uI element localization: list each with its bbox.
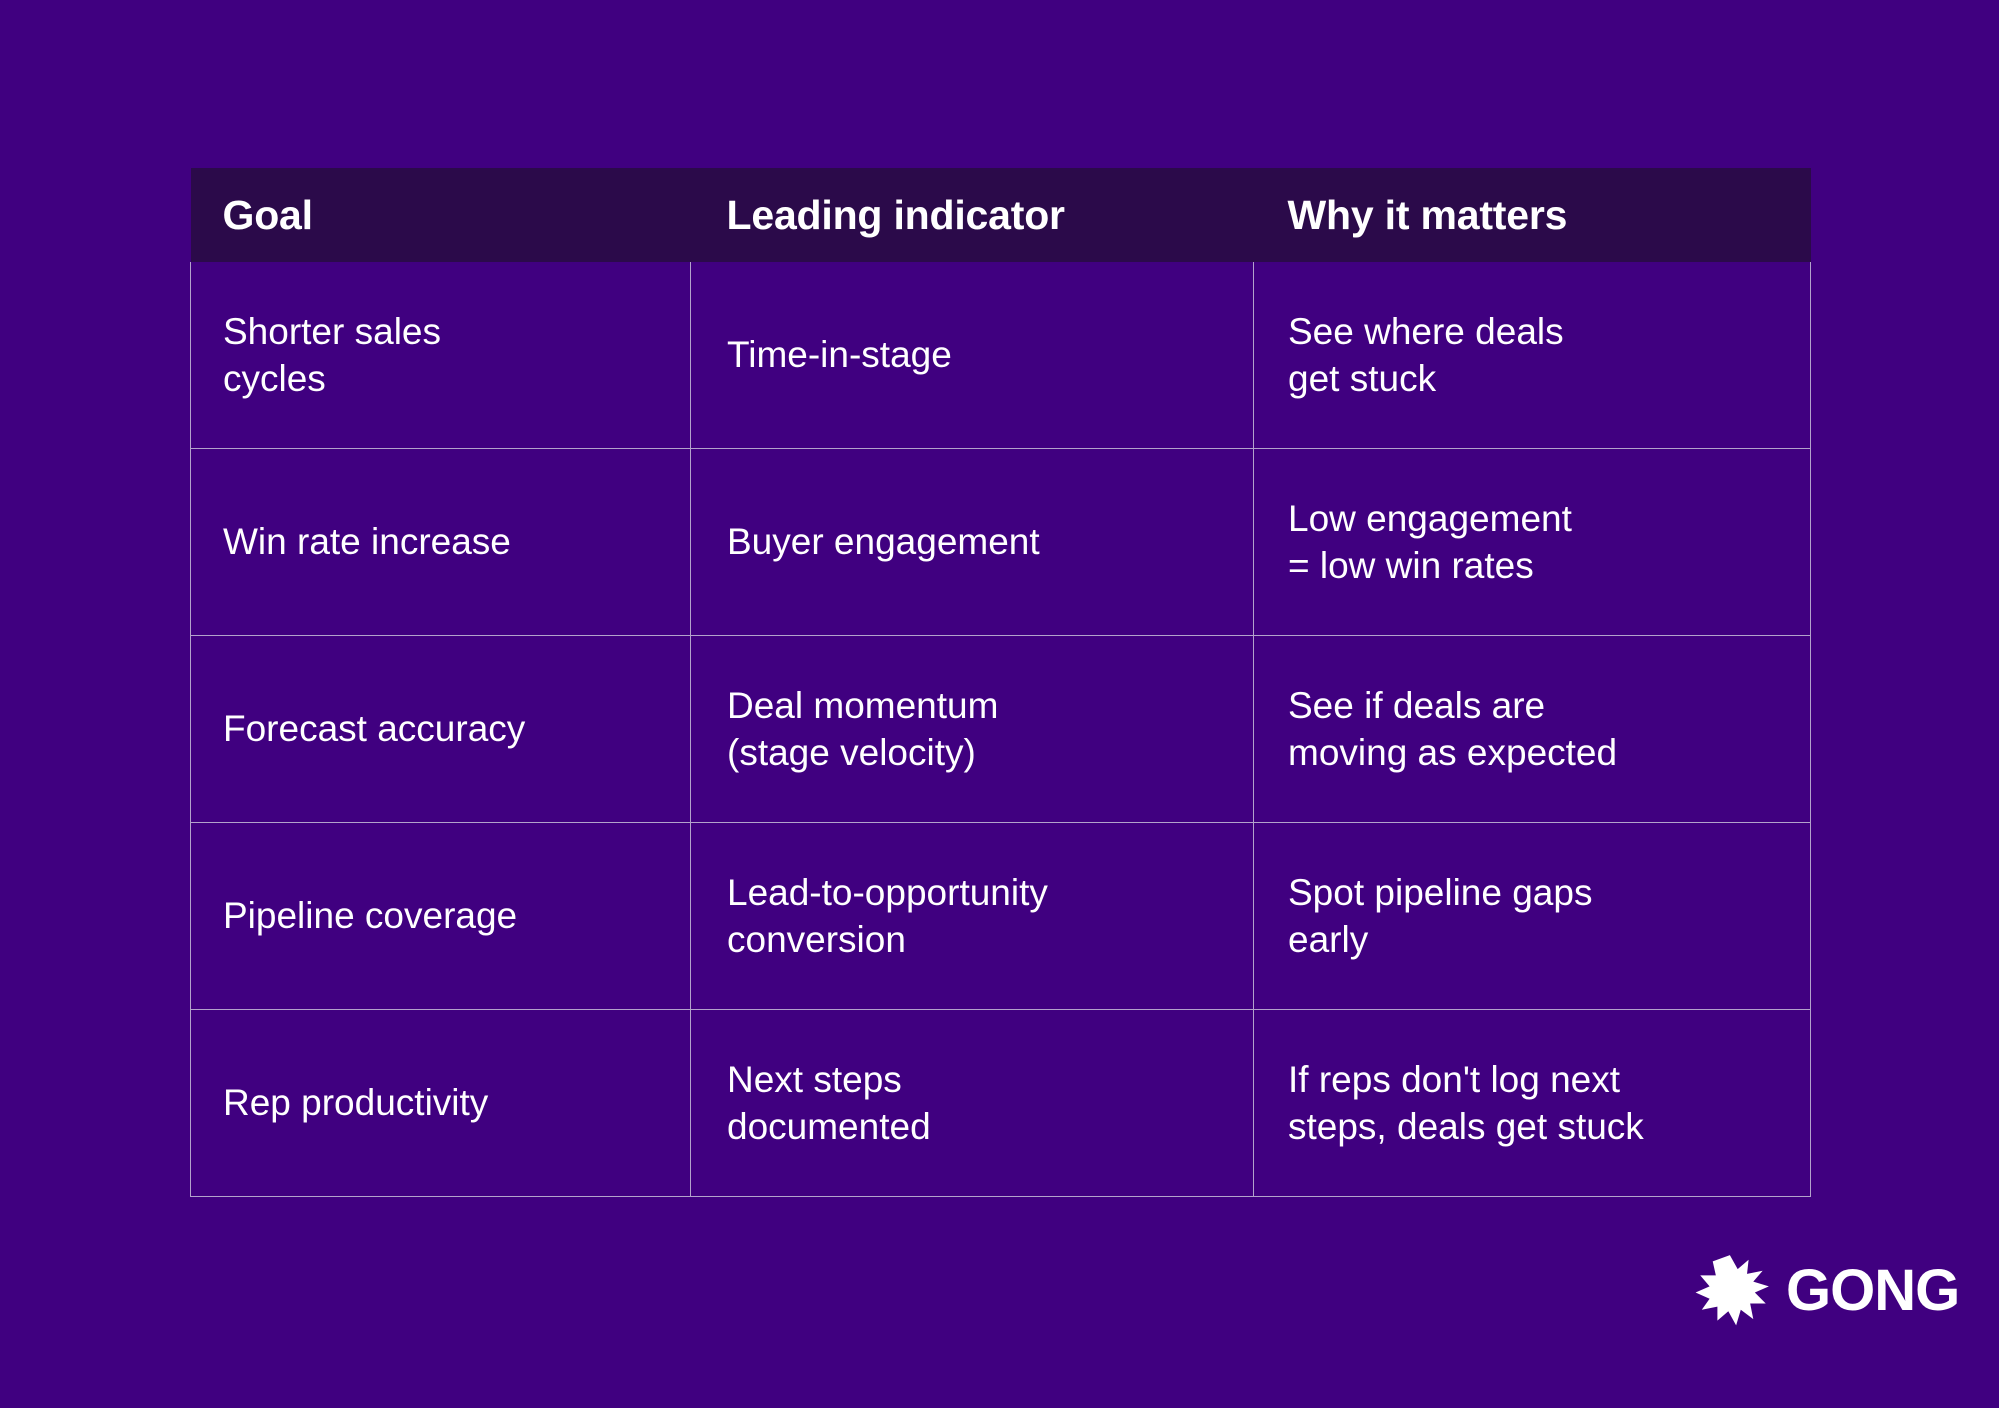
table-header: Goal Leading indicator Why it matters [191, 168, 1811, 262]
gong-wordmark: GONG [1786, 1262, 1959, 1320]
gong-logo: GONG [1694, 1252, 1959, 1330]
cell-text: Forecast accuracy [223, 705, 664, 752]
cell-why: If reps don't log next steps, deals get … [1254, 1010, 1811, 1197]
cell-indicator: Buyer engagement [691, 449, 1254, 636]
cell-why: See if deals are moving as expected [1254, 636, 1811, 823]
cell-text: Win rate increase [223, 518, 664, 565]
cell-indicator: Lead-to-opportunity conversion [691, 823, 1254, 1010]
cell-text: Buyer engagement [727, 518, 1227, 565]
metrics-table-container: Goal Leading indicator Why it matters Sh… [190, 168, 1810, 1197]
cell-text: Deal momentum (stage velocity) [727, 682, 1227, 777]
cell-why: See where deals get stuck [1254, 262, 1811, 449]
cell-why: Low engagement = low win rates [1254, 449, 1811, 636]
cell-goal: Pipeline coverage [191, 823, 691, 1010]
cell-goal: Rep productivity [191, 1010, 691, 1197]
cell-indicator: Next steps documented [691, 1010, 1254, 1197]
cell-text: Lead-to-opportunity conversion [727, 869, 1227, 964]
cell-goal: Shorter sales cycles [191, 262, 691, 449]
cell-goal: Forecast accuracy [191, 636, 691, 823]
cell-text: See where deals get stuck [1288, 308, 1784, 403]
table-row: Rep productivity Next steps documented I… [191, 1010, 1811, 1197]
gong-starburst-icon [1694, 1252, 1772, 1330]
column-header-why-it-matters: Why it matters [1254, 168, 1811, 262]
table-row: Win rate increase Buyer engagement Low e… [191, 449, 1811, 636]
cell-indicator: Time-in-stage [691, 262, 1254, 449]
cell-text: Shorter sales cycles [223, 308, 664, 403]
table-row: Shorter sales cycles Time-in-stage See w… [191, 262, 1811, 449]
column-header-leading-indicator: Leading indicator [691, 168, 1254, 262]
cell-text: Time-in-stage [727, 331, 1227, 378]
cell-text: See if deals are moving as expected [1288, 682, 1784, 777]
table-row: Forecast accuracy Deal momentum (stage v… [191, 636, 1811, 823]
cell-indicator: Deal momentum (stage velocity) [691, 636, 1254, 823]
metrics-table: Goal Leading indicator Why it matters Sh… [190, 168, 1811, 1197]
cell-goal: Win rate increase [191, 449, 691, 636]
cell-text: Rep productivity [223, 1079, 664, 1126]
cell-text: Pipeline coverage [223, 892, 664, 939]
cell-text: If reps don't log next steps, deals get … [1288, 1056, 1784, 1151]
table-row: Pipeline coverage Lead-to-opportunity co… [191, 823, 1811, 1010]
cell-text: Spot pipeline gaps early [1288, 869, 1784, 964]
column-header-goal: Goal [191, 168, 691, 262]
cell-text: Next steps documented [727, 1056, 1227, 1151]
cell-why: Spot pipeline gaps early [1254, 823, 1811, 1010]
cell-text: Low engagement = low win rates [1288, 495, 1784, 590]
table-body: Shorter sales cycles Time-in-stage See w… [191, 262, 1811, 1197]
page-root: { "page": { "background_color": "#400080… [0, 0, 1999, 1408]
header-row: Goal Leading indicator Why it matters [191, 168, 1811, 262]
